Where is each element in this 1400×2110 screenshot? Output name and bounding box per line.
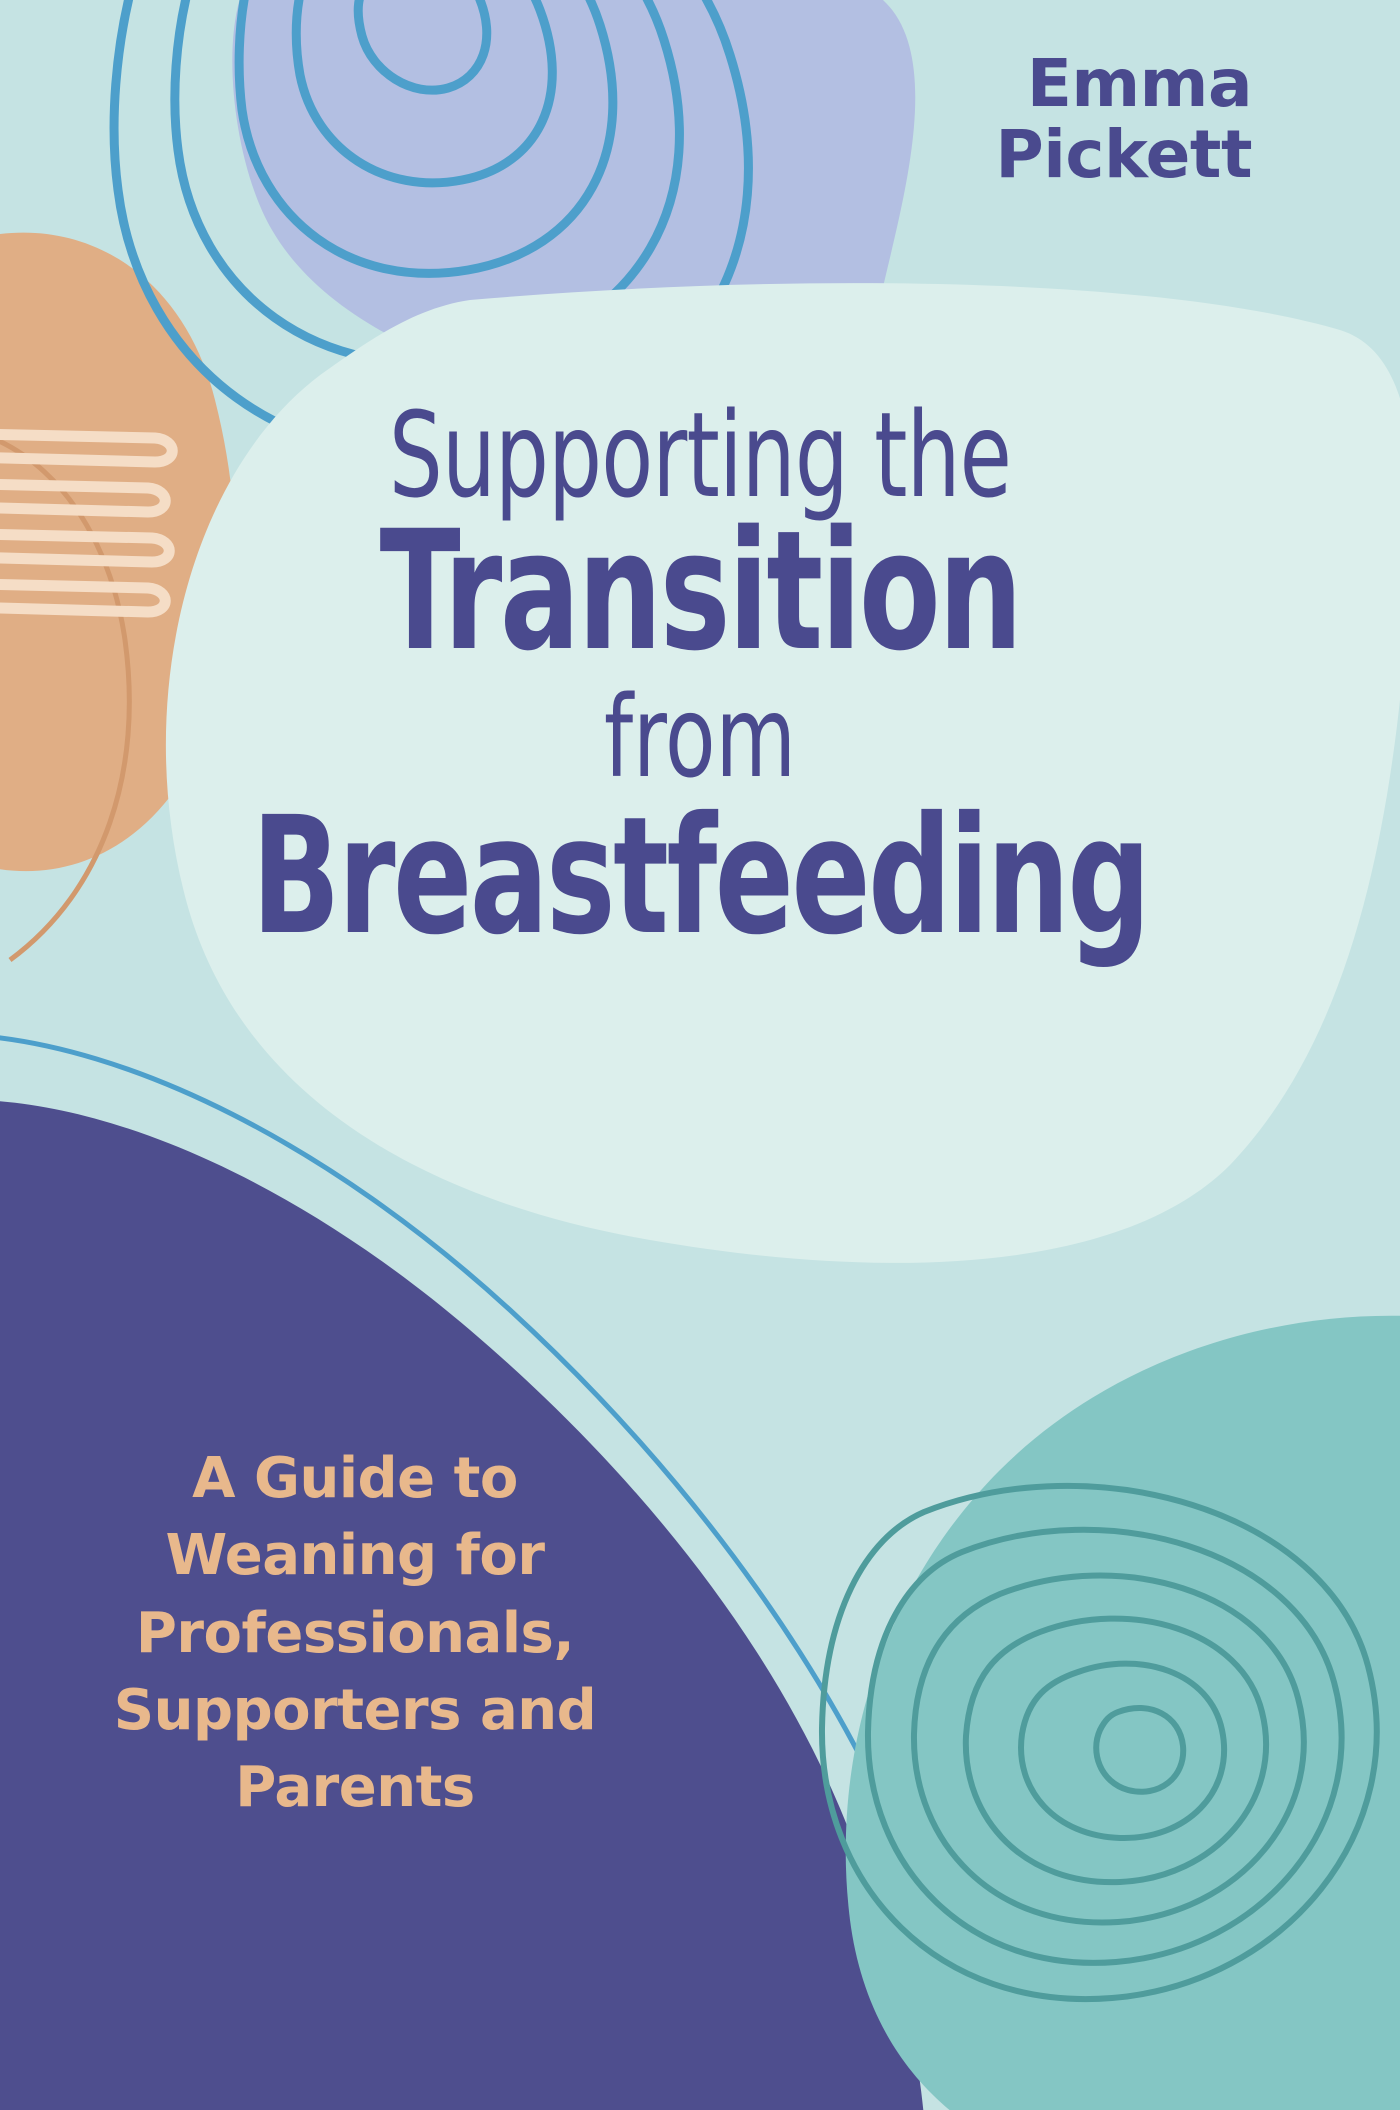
book-title: Supporting the Transition from Breastfee… (0, 395, 1400, 958)
title-line-3: from (126, 680, 1274, 798)
text-layer: Emma Pickett Supporting the Transition f… (0, 0, 1400, 2110)
title-line-4: Breastfeeding (140, 796, 1260, 958)
author-line-1: Emma (832, 48, 1252, 119)
author-name: Emma Pickett (832, 48, 1252, 191)
book-subtitle: A Guide to Weaning for Professionals, Su… (60, 1440, 650, 1826)
subtitle-line-1: A Guide to (60, 1440, 650, 1517)
title-line-2: Transition (140, 509, 1260, 674)
subtitle-line-2: Weaning for (60, 1517, 650, 1594)
subtitle-line-5: Parents (60, 1749, 650, 1826)
subtitle-line-3: Professionals, (60, 1595, 650, 1672)
book-cover: Emma Pickett Supporting the Transition f… (0, 0, 1400, 2110)
author-line-2: Pickett (832, 119, 1252, 190)
subtitle-line-4: Supporters and (60, 1672, 650, 1749)
